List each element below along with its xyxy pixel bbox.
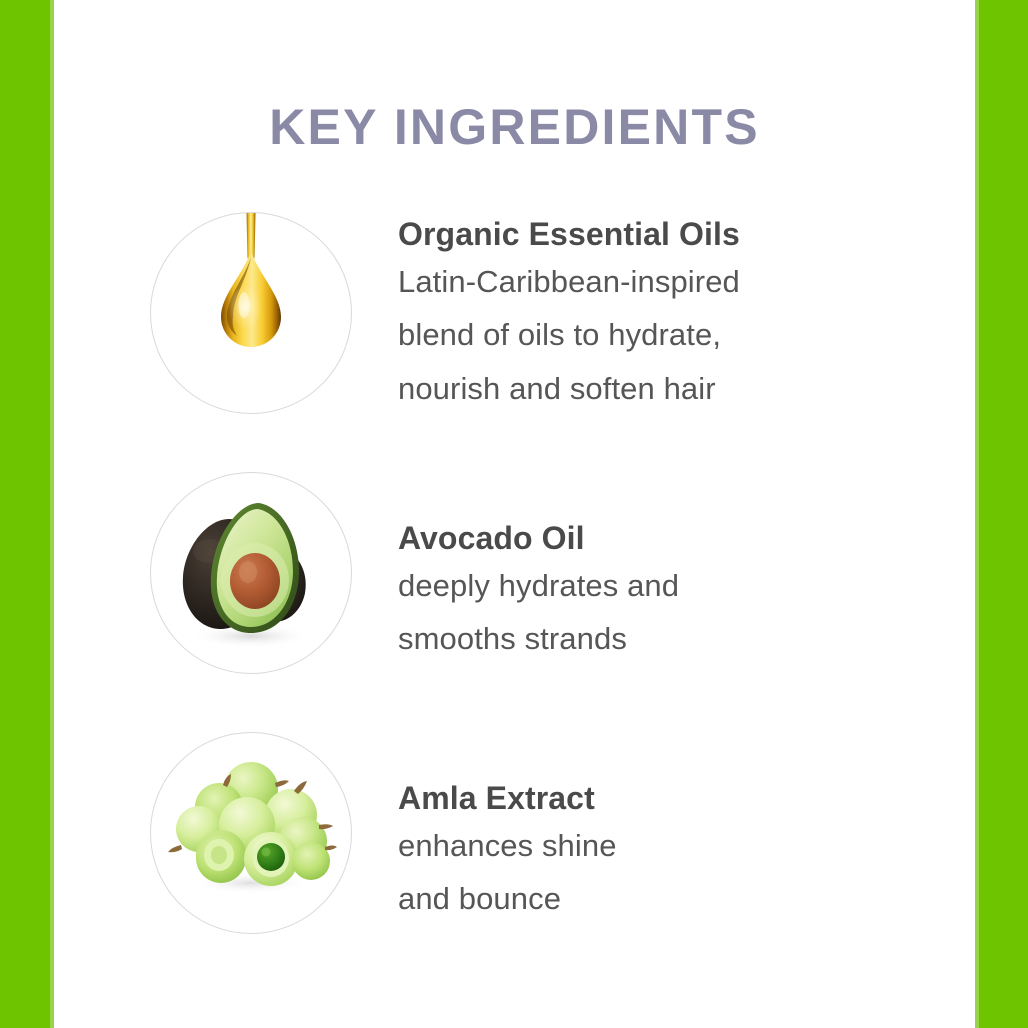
ingredient-row: Amla Extract enhances shine and bounce: [150, 732, 950, 934]
ingredient-description: deeply hydrates and smooths strands: [398, 559, 679, 666]
description-line: deeply hydrates and: [398, 559, 679, 612]
description-line: nourish and soften hair: [398, 362, 740, 415]
right-green-border: [975, 0, 1028, 1028]
key-ingredients-infographic: KEY INGREDIENTS: [0, 0, 1028, 1028]
description-line: Latin-Caribbean-inspired: [398, 255, 740, 308]
ingredient-text: Avocado Oil deeply hydrates and smooths …: [398, 472, 679, 666]
left-green-border: [0, 0, 54, 1028]
ingredient-name: Organic Essential Oils: [398, 214, 740, 255]
ingredient-text: Amla Extract enhances shine and bounce: [398, 732, 617, 926]
ingredient-row: Organic Essential Oils Latin-Caribbean-i…: [150, 212, 950, 415]
ingredient-text: Organic Essential Oils Latin-Caribbean-i…: [398, 212, 740, 415]
ingredient-name: Amla Extract: [398, 778, 617, 819]
description-line: blend of oils to hydrate,: [398, 308, 740, 361]
oil-drop-icon: [150, 212, 352, 414]
ingredient-row: Avocado Oil deeply hydrates and smooths …: [150, 472, 950, 674]
amla-berries-icon: [150, 732, 352, 934]
avocado-icon: [150, 472, 352, 674]
description-line: and bounce: [398, 872, 617, 925]
ingredient-name: Avocado Oil: [398, 518, 679, 559]
content-area: KEY INGREDIENTS: [54, 0, 975, 1028]
ingredient-description: Latin-Caribbean-inspired blend of oils t…: [398, 255, 740, 415]
right-border-highlight: [975, 0, 979, 1028]
description-line: enhances shine: [398, 819, 617, 872]
ingredient-description: enhances shine and bounce: [398, 819, 617, 926]
page-title: KEY INGREDIENTS: [54, 98, 975, 156]
description-line: smooths strands: [398, 612, 679, 665]
